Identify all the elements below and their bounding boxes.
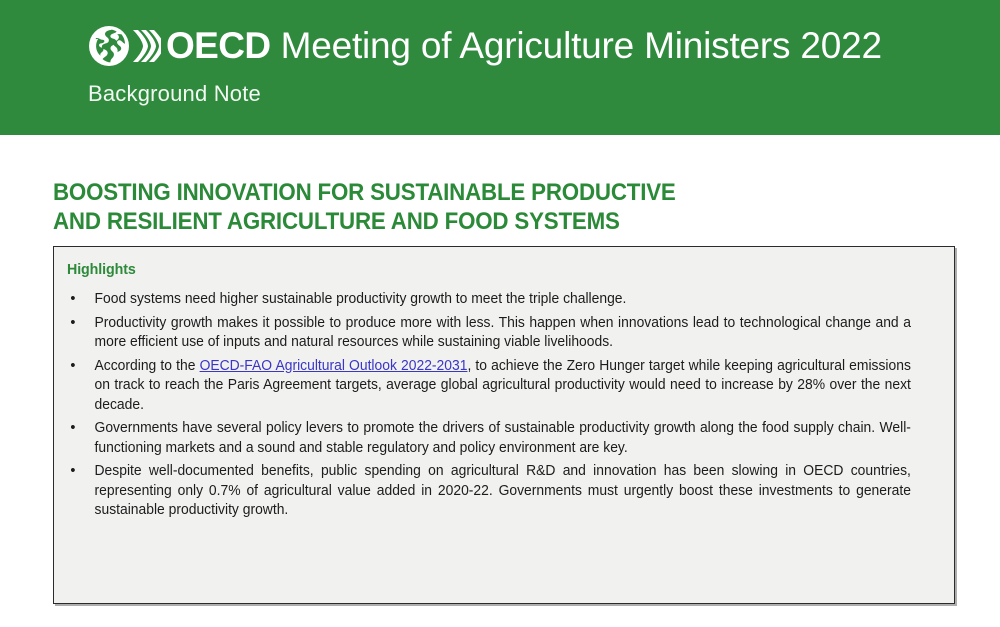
header-content: OECD Meeting of Agriculture Ministers 20…	[88, 22, 980, 107]
list-item: Governments have several policy levers t…	[54, 419, 911, 462]
brand-title: OECD Meeting of Agriculture Ministers 20…	[166, 25, 882, 67]
bullet-text-before-link: According to the	[95, 358, 200, 374]
oecd-logo	[88, 25, 161, 67]
bullet-text: Food systems need higher sustainable pro…	[95, 290, 911, 310]
brand-row: OECD Meeting of Agriculture Ministers 20…	[88, 22, 980, 70]
bullet-text-with-link: According to the OECD-FAO Agricultural O…	[95, 357, 911, 416]
page-title-line-2: AND RESILIENT AGRICULTURE AND FOOD SYSTE…	[53, 207, 890, 236]
highlights-bullet-list: Food systems need higher sustainable pro…	[54, 290, 954, 521]
header-subtitle: Background Note	[88, 81, 980, 107]
oecd-chevrons-icon	[131, 26, 161, 66]
brand-acronym: OECD	[166, 25, 271, 66]
bullet-text: Governments have several policy levers t…	[95, 419, 911, 458]
oecd-fao-outlook-link[interactable]: OECD-FAO Agricultural Outlook 2022-2031	[200, 358, 468, 374]
oecd-globe-icon	[88, 25, 130, 67]
header-band: OECD Meeting of Agriculture Ministers 20…	[0, 0, 1000, 135]
page-title-line-1: BOOSTING INNOVATION FOR SUSTAINABLE PROD…	[53, 178, 890, 207]
list-item: Productivity growth makes it possible to…	[54, 314, 911, 357]
bullet-text: Productivity growth makes it possible to…	[95, 314, 911, 353]
list-item: According to the OECD-FAO Agricultural O…	[54, 357, 911, 420]
brand-title-rest: Meeting of Agriculture Ministers 2022	[271, 25, 882, 66]
list-item: Food systems need higher sustainable pro…	[54, 290, 911, 314]
list-item: Despite well-documented benefits, public…	[54, 462, 911, 521]
bullet-text: Despite well-documented benefits, public…	[95, 462, 911, 521]
highlights-heading: Highlights	[67, 261, 910, 279]
highlights-box: Highlights Food systems need higher sust…	[53, 246, 955, 604]
page-title: BOOSTING INNOVATION FOR SUSTAINABLE PROD…	[53, 178, 890, 236]
